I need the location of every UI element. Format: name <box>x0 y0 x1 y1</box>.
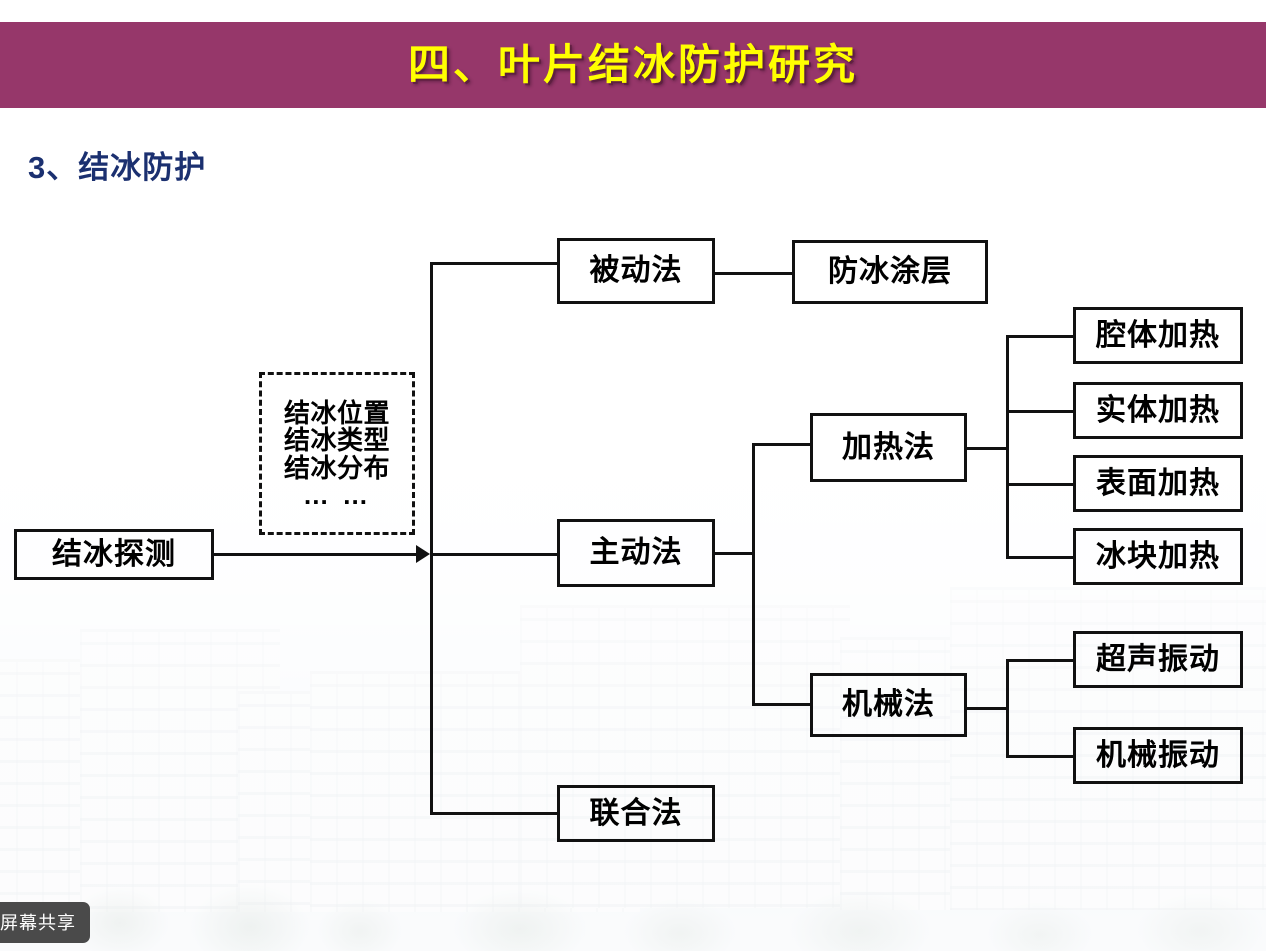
node-mechanical-vibration[interactable]: 机械振动 <box>1073 727 1243 784</box>
edge-trunk-to-combined <box>430 812 558 815</box>
edge-mechanical-child-2 <box>1006 755 1074 758</box>
edge-heating-child-3 <box>1006 483 1074 486</box>
node-ice-detection[interactable]: 结冰探测 <box>14 529 214 580</box>
edge-active-to-subtrunk <box>715 552 755 555</box>
edge-heating-to-trunk <box>967 447 1009 450</box>
edge-passive-to-coating <box>715 272 792 275</box>
edge-heating-child-4 <box>1006 556 1074 559</box>
slide-canvas: 四、叶片结冰防护研究 3、结冰防护 结冰探测 结冰位置 结冰类型 结冰分布 … … <box>0 0 1266 951</box>
edge-trunk-to-active <box>430 553 558 556</box>
edge-subtrunk-to-mechanical <box>752 703 812 706</box>
ice-protection-diagram: 结冰探测 结冰位置 结冰类型 结冰分布 … … 被动法 主动法 联合法 防冰涂层… <box>0 0 1266 951</box>
node-active-method[interactable]: 主动法 <box>557 519 715 587</box>
edge-mechanical-to-trunk <box>967 707 1009 710</box>
edge-mechanical-child-1 <box>1006 659 1074 662</box>
node-heating-method[interactable]: 加热法 <box>810 413 967 482</box>
edge-root-to-trunk <box>214 553 419 556</box>
trunk-mechanical <box>1006 659 1009 758</box>
attribute-line-ellipsis: … … <box>303 482 371 509</box>
attribute-line-1: 结冰位置 <box>284 400 390 427</box>
node-combined-method[interactable]: 联合法 <box>557 785 715 842</box>
node-anti-ice-coating[interactable]: 防冰涂层 <box>792 240 988 304</box>
node-surface-heating[interactable]: 表面加热 <box>1073 455 1243 512</box>
edge-subtrunk-to-heating <box>752 443 812 446</box>
trunk-heating <box>1006 335 1009 556</box>
edge-heating-child-2 <box>1006 410 1074 413</box>
trunk-main <box>430 262 433 815</box>
edge-trunk-to-passive <box>430 262 558 265</box>
trunk-active <box>752 443 755 705</box>
node-cavity-heating[interactable]: 腔体加热 <box>1073 307 1243 364</box>
node-detection-attributes[interactable]: 结冰位置 结冰类型 结冰分布 … … <box>259 372 415 535</box>
arrow-head-to-trunk <box>416 545 430 563</box>
attribute-line-2: 结冰类型 <box>284 427 390 454</box>
node-mechanical-method[interactable]: 机械法 <box>810 673 967 737</box>
node-ice-block-heating[interactable]: 冰块加热 <box>1073 528 1243 585</box>
node-ultrasonic-vibration[interactable]: 超声振动 <box>1073 631 1243 688</box>
screen-share-toast: 电的屏幕共享 <box>0 902 90 943</box>
node-passive-method[interactable]: 被动法 <box>557 238 715 304</box>
node-solid-heating[interactable]: 实体加热 <box>1073 382 1243 439</box>
attribute-line-3: 结冰分布 <box>284 455 390 482</box>
edge-heating-child-1 <box>1006 335 1074 338</box>
